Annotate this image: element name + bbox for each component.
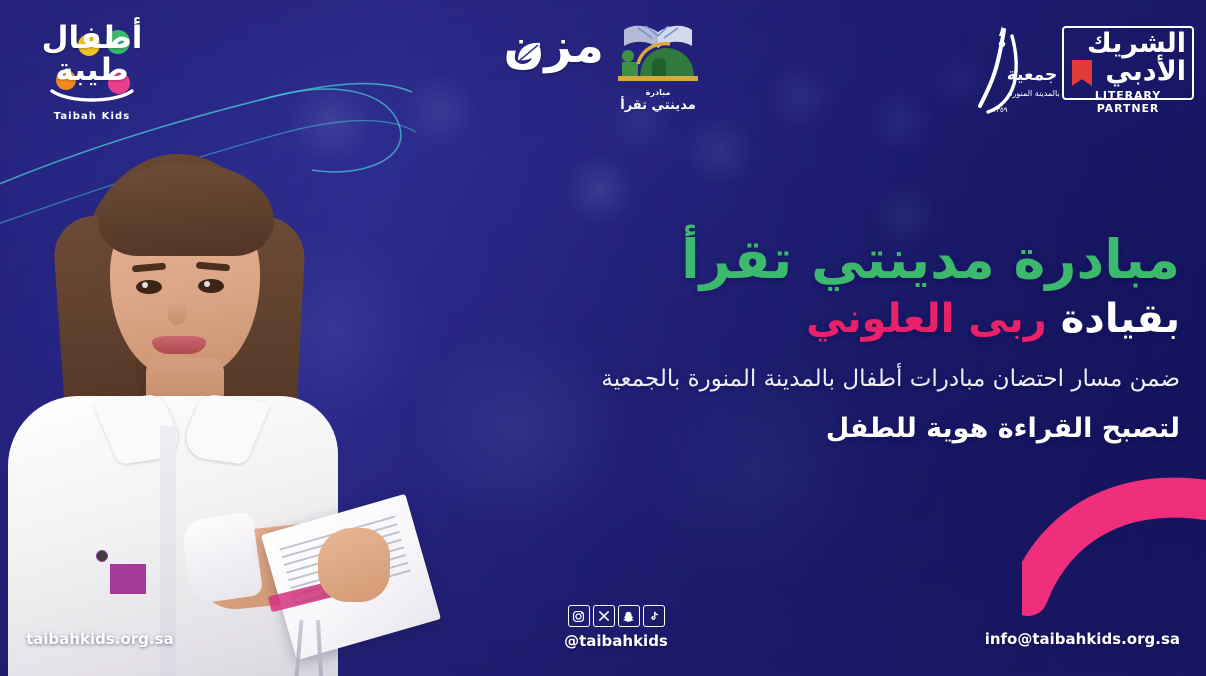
headline-tagline: لتصبح القراءة هوية للطفل <box>520 410 1180 448</box>
snapchat-icon[interactable] <box>618 605 640 627</box>
headline-subtitle: ضمن مسار احتضان مبادرات أطفال بالمدينة ا… <box>520 362 1180 397</box>
social-handle[interactable]: @taibahkids <box>551 632 681 650</box>
minaret-calligraphy-icon: جمعية بالمدينة المنورة ١٣٥٩ <box>972 24 1076 118</box>
my-city-reads-logo: مبادرة مدينتي تقرأ <box>604 22 712 114</box>
city-logo-caption-large: مدينتي تقرأ <box>604 98 712 114</box>
shirt-logo-badge <box>92 548 150 594</box>
hair-fringe <box>98 164 274 256</box>
foreground-girl-photo <box>0 96 390 676</box>
shirt-cuff <box>181 511 264 604</box>
social-icons-row <box>551 605 681 627</box>
svg-text:جمعية: جمعية <box>1007 65 1058 85</box>
jamiyat-albir-logo: جمعية بالمدينة المنورة ١٣٥٩ <box>972 24 1076 118</box>
mizn-logo: مزن <box>512 22 604 108</box>
footer-social-block: @taibahkids <box>551 605 681 650</box>
city-logo-caption-small: مبادرة <box>604 88 712 98</box>
instagram-glyph <box>572 610 585 623</box>
snapchat-glyph <box>622 610 635 623</box>
svg-text:١٣٥٩: ١٣٥٩ <box>992 106 1007 114</box>
literary-partner-logo: الشريك الأدبي LITERARY PARTNER <box>1062 26 1194 118</box>
instagram-icon[interactable] <box>568 605 590 627</box>
tiktok-glyph <box>648 610 660 623</box>
tiktok-icon[interactable] <box>643 605 665 627</box>
eye-highlight-right <box>204 281 210 287</box>
eye-highlight-left <box>142 282 148 288</box>
headline-secondary: بقيادة ربى العلوني <box>520 292 1180 346</box>
headline-primary: مبادرة مدينتي تقرأ <box>520 228 1180 292</box>
smile-icon <box>49 88 135 104</box>
taibah-logo-arabic-line1: أطفال <box>22 22 162 54</box>
headline-leadership-prefix: بقيادة <box>1047 296 1180 342</box>
svg-text:بالمدينة المنورة: بالمدينة المنورة <box>1008 89 1059 98</box>
x-twitter-icon[interactable] <box>593 605 615 627</box>
taibah-kids-logo: أطفال طيبة Taibah Kids <box>22 22 162 128</box>
eye-right <box>198 279 224 293</box>
open-book-mosque-icon <box>608 22 708 84</box>
x-glyph <box>598 610 610 622</box>
headline-block: مبادرة مدينتي تقرأ بقيادة ربى العلوني ضم… <box>520 228 1180 448</box>
hand <box>318 528 390 602</box>
mouth <box>152 336 206 354</box>
eye-left <box>136 280 162 294</box>
nose <box>168 301 186 325</box>
partner-arabic-line2: الأدبي <box>1062 58 1194 86</box>
taibah-logo-latin: Taibah Kids <box>22 111 162 122</box>
event-banner: أطفال طيبة Taibah Kids مزن مبادرة مدينت <box>0 0 1206 676</box>
leaf-icon <box>514 40 544 66</box>
taibah-logo-arabic-line2: طيبة <box>22 54 162 86</box>
decorative-pink-arc <box>1022 468 1206 628</box>
headline-leader-name: ربى العلوني <box>806 296 1047 342</box>
footer-email[interactable]: info@taibahkids.org.sa <box>985 630 1180 648</box>
footer-website[interactable]: taibahkids.org.sa <box>26 630 174 648</box>
partner-arabic-line1: الشريك <box>1062 26 1194 58</box>
